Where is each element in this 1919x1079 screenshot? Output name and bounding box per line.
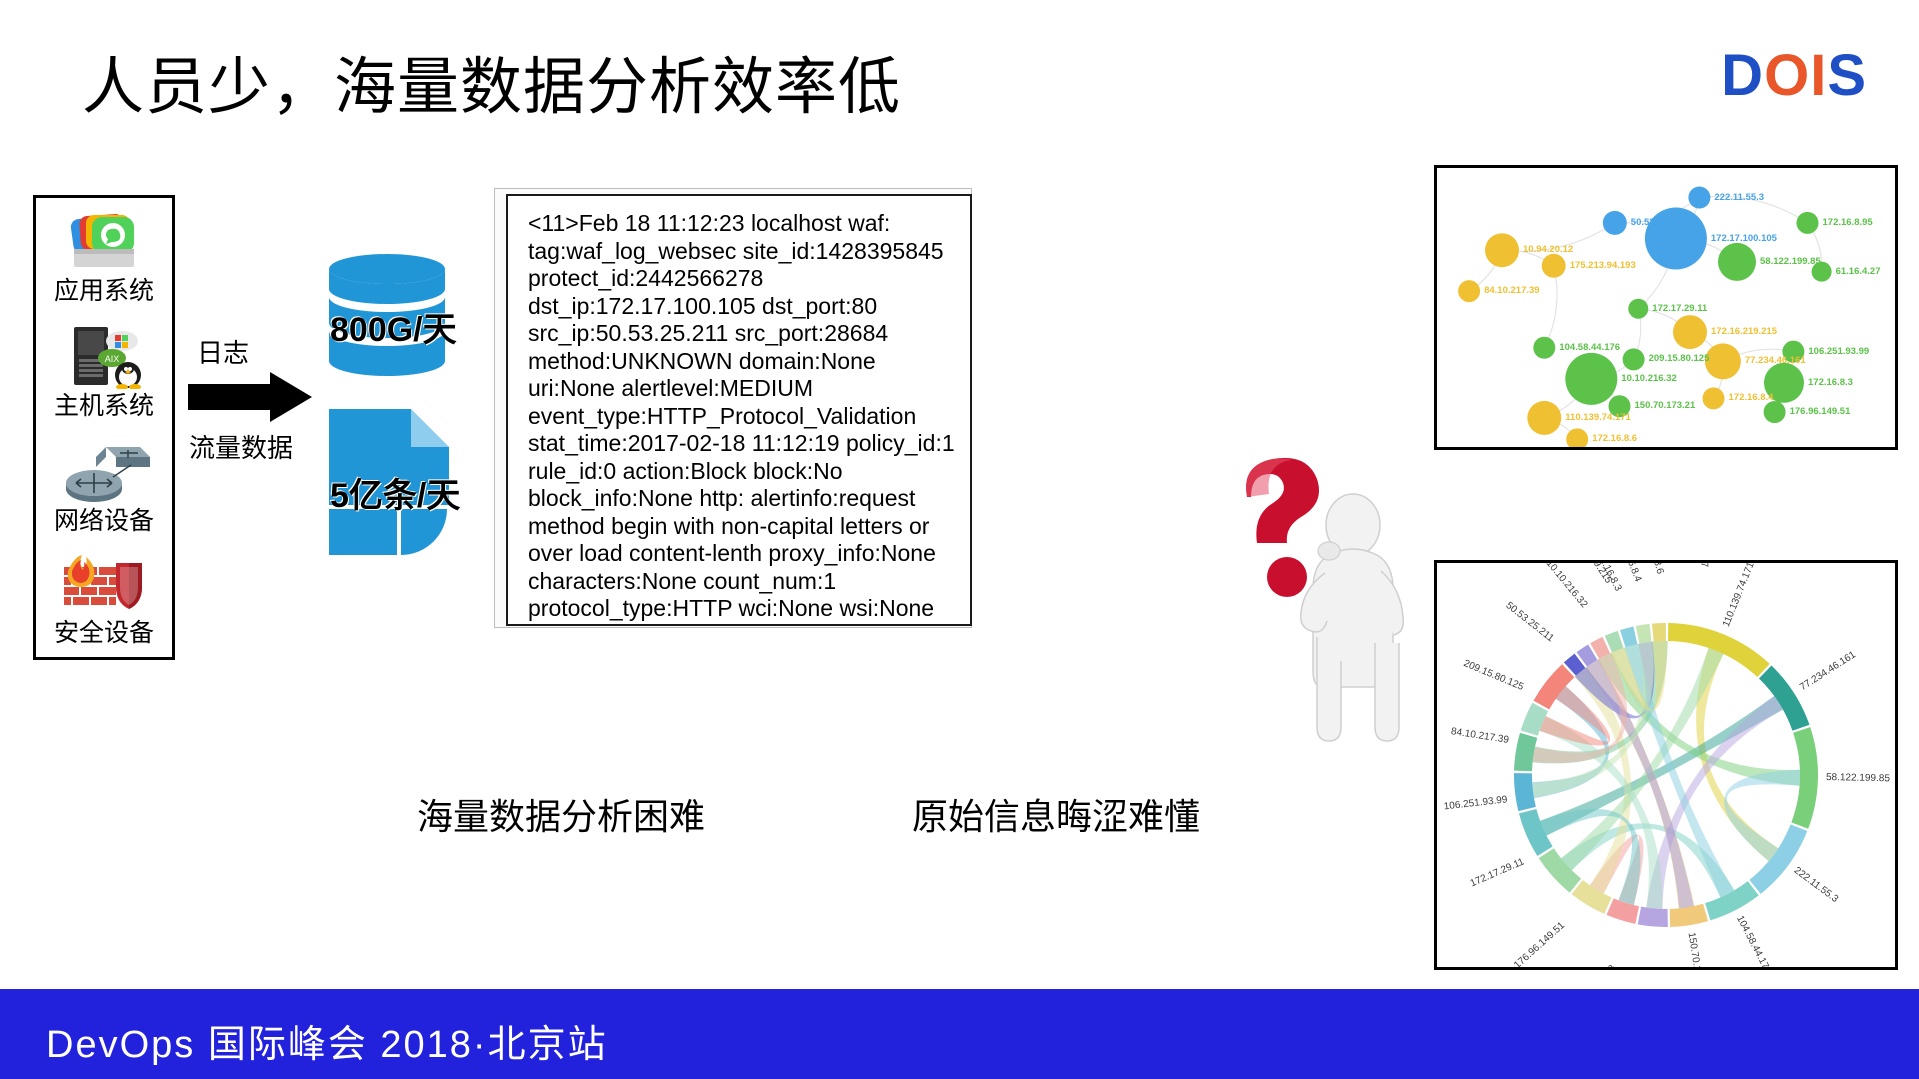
network-graph-panel: 222.11.55.350.53.25.211172.17.100.105172… bbox=[1434, 165, 1898, 450]
chord-arc bbox=[1759, 666, 1809, 731]
chord-diagram-panel: 110.139.74.17177.234.46.16158.122.199.85… bbox=[1434, 560, 1898, 970]
graph-node-label: 172.16.8.6 bbox=[1592, 433, 1637, 444]
logo-letter-d: D bbox=[1721, 43, 1764, 108]
graph-node-label: 172.16.8.95 bbox=[1823, 217, 1873, 228]
note-body: <11>Feb 18 11:12:23 localhost waf: tag:w… bbox=[506, 194, 972, 626]
logo-letter-i: I bbox=[1810, 43, 1827, 108]
chord-arc bbox=[1636, 624, 1652, 644]
graph-node-label: 172.16.8.3 bbox=[1808, 377, 1853, 388]
chord-segment-label: 58.122.199.85 bbox=[1826, 772, 1890, 784]
graph-node-label: 172.17.29.11 bbox=[1652, 303, 1707, 314]
graph-node-label: 84.10.217.39 bbox=[1484, 285, 1539, 296]
chord-arc bbox=[1514, 773, 1536, 811]
server-rack-icon: AIX bbox=[36, 323, 172, 391]
chord-arc bbox=[1652, 623, 1666, 642]
source-label: 安全设备 bbox=[36, 618, 172, 648]
dois-logo: DOIS bbox=[1721, 42, 1867, 109]
graph-node-label: 175.213.94.193 bbox=[1570, 260, 1636, 271]
firewall-shield-icon bbox=[36, 550, 172, 618]
graph-node-label: 172.16.219.215 bbox=[1711, 326, 1777, 337]
log-text: <11>Feb 18 11:12:23 localhost waf: tag:w… bbox=[528, 210, 960, 623]
graph-node-label: 110.139.74.171 bbox=[1565, 412, 1631, 423]
data-source-box: 应用系统 AIX bbox=[33, 195, 175, 660]
graph-node-label: 61.16.4.27 bbox=[1836, 266, 1881, 277]
graph-node-label: 209.15.80.125 bbox=[1649, 353, 1710, 364]
graph-node-label: 104.58.44.176 bbox=[1559, 342, 1620, 353]
graph-node-label: 10.10.216.32 bbox=[1621, 373, 1676, 384]
source-label: 应用系统 bbox=[36, 276, 172, 306]
flow-label-traffic: 流量数据 bbox=[189, 428, 293, 465]
list-item: AIX 主机系统 bbox=[36, 323, 172, 421]
graph-node-label: 172.17.100.105 bbox=[1711, 233, 1777, 244]
chord-arc bbox=[1668, 623, 1770, 677]
footer-text: DevOps 国际峰会 2018·北京站 bbox=[46, 1013, 608, 1068]
graph-node-label: 106.251.93.99 bbox=[1808, 346, 1869, 357]
graph-node-label: 77.234.46.161 bbox=[1745, 355, 1806, 366]
page-title: 人员少，海量数据分析效率低 bbox=[82, 36, 901, 126]
footer-bar: DevOps 国际峰会 2018·北京站 bbox=[0, 989, 1919, 1079]
router-switch-icon bbox=[36, 438, 172, 506]
right-arrow-icon bbox=[188, 372, 312, 422]
chord-diagram-svg bbox=[1437, 563, 1895, 967]
svg-text:AIX: AIX bbox=[105, 354, 120, 364]
caption-raw-info-obscure: 原始信息晦涩难懂 bbox=[912, 788, 1200, 840]
flow-label-log: 日志 bbox=[197, 333, 249, 370]
graph-node-label: 176.96.149.51 bbox=[1790, 406, 1851, 417]
chord-arc bbox=[1638, 907, 1668, 927]
graph-node-label: 58.122.199.85 bbox=[1760, 256, 1821, 267]
source-label: 网络设备 bbox=[36, 506, 172, 536]
graph-node-label: 150.70.173.21 bbox=[1635, 400, 1696, 411]
chord-segment-label: 61.16.4.27 bbox=[1696, 560, 1709, 568]
log-sample-note: <11>Feb 18 11:12:23 localhost waf: tag:w… bbox=[494, 188, 972, 628]
question-mark-person-icon bbox=[1225, 455, 1420, 755]
metric-count: 5亿条/天 bbox=[330, 468, 460, 517]
chord-arc bbox=[1514, 733, 1537, 771]
metric-volume: 800G/天 bbox=[330, 302, 457, 351]
chord-arc bbox=[1670, 904, 1708, 927]
logo-letter-s: S bbox=[1827, 43, 1867, 108]
source-label: 主机系统 bbox=[36, 391, 172, 421]
graph-node-label: 172.16.8.4 bbox=[1729, 392, 1774, 403]
logo-letter-o: O bbox=[1764, 43, 1810, 108]
chord-arc bbox=[1620, 627, 1637, 648]
graph-node-label: 10.94.20.12 bbox=[1523, 244, 1573, 255]
app-stack-icon bbox=[36, 208, 172, 276]
graph-node-label: 50.53.25.211 bbox=[1631, 217, 1686, 228]
list-item: 安全设备 bbox=[36, 550, 172, 648]
list-item: 网络设备 bbox=[36, 438, 172, 536]
graph-node-label: 222.11.55.3 bbox=[1714, 192, 1764, 203]
caption-analysis-difficult: 海量数据分析困难 bbox=[417, 788, 705, 840]
list-item: 应用系统 bbox=[36, 208, 172, 306]
